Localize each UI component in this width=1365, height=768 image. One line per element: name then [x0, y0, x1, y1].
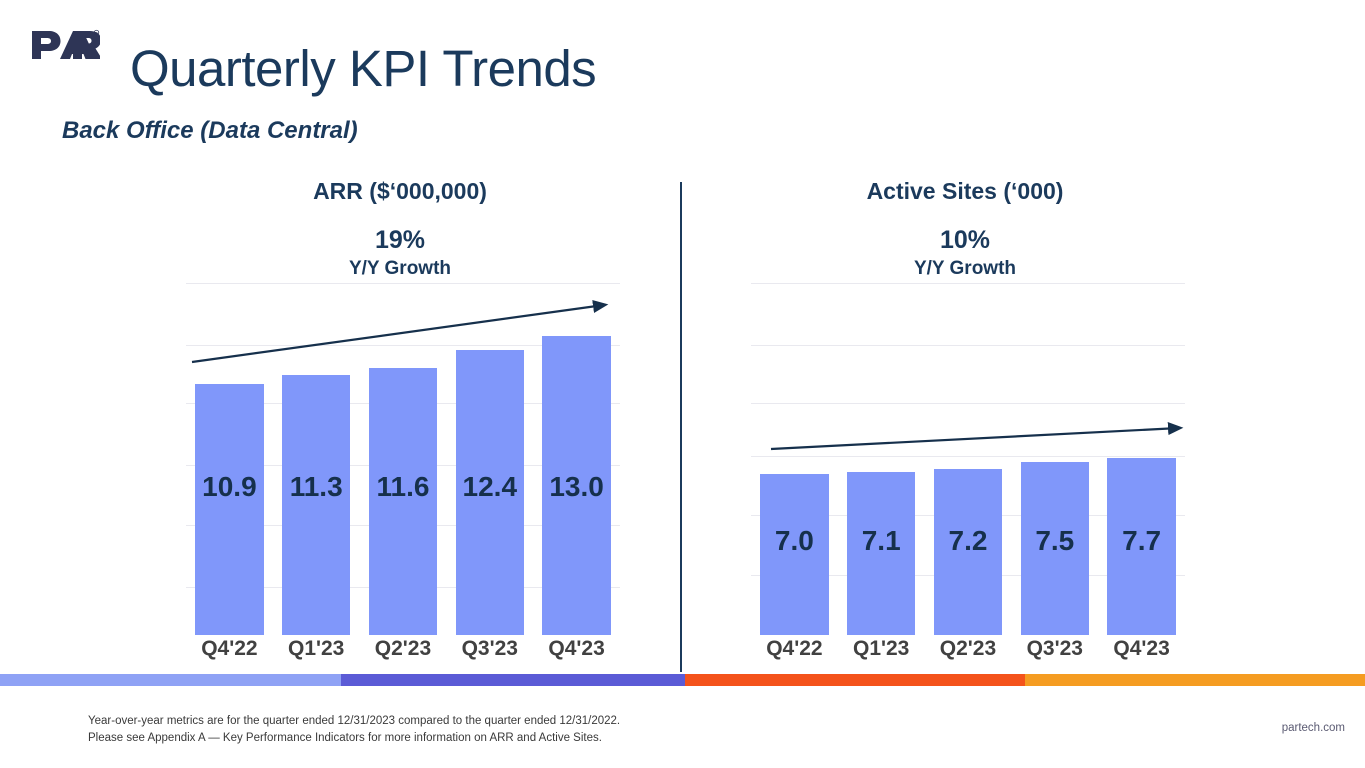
- bar-Q423[interactable]: 13.0: [542, 336, 611, 635]
- x-axis-tick-label: Q4'22: [760, 637, 829, 661]
- bar-Q422[interactable]: 7.0: [760, 474, 829, 635]
- x-axis-tick-label: Q2'23: [369, 637, 438, 661]
- chart-title-active-sites: Active Sites (‘000): [715, 178, 1215, 205]
- bar-Q123[interactable]: 7.1: [847, 472, 916, 635]
- bar-value-label: 11.6: [369, 471, 438, 503]
- gridline: [751, 345, 1185, 346]
- bar-Q422[interactable]: 10.9: [195, 384, 264, 635]
- x-axis-tick-label: Q2'23: [934, 637, 1003, 661]
- strip-segment-indigo: [341, 674, 685, 686]
- x-axis-tick-label: Q3'23: [1021, 637, 1090, 661]
- growth-value-active-sites: 10%: [715, 226, 1215, 255]
- bar-fill: [282, 375, 351, 635]
- bar-fill: [195, 384, 264, 635]
- growth-label-arr: Y/Y Growth: [150, 258, 650, 280]
- bar-Q323[interactable]: 7.5: [1021, 462, 1090, 635]
- strip-segment-orange-red: [685, 674, 1025, 686]
- bar-Q223[interactable]: 7.2: [934, 469, 1003, 635]
- gridline: [751, 456, 1185, 457]
- x-axis-tick-label: Q1'23: [847, 637, 916, 661]
- panel-divider: [680, 182, 682, 672]
- footnote-line-1: Year-over-year metrics are for the quart…: [88, 713, 620, 730]
- x-axis-tick-label: Q3'23: [456, 637, 525, 661]
- footnote: Year-over-year metrics are for the quart…: [88, 713, 620, 746]
- bar-Q323[interactable]: 12.4: [456, 350, 525, 635]
- growth-value-arr: 19%: [150, 226, 650, 255]
- strip-segment-periwinkle: [0, 674, 341, 686]
- x-axis-labels-arr: Q4'22Q1'23Q2'23Q3'23Q4'23: [186, 637, 620, 669]
- bar-value-label: 7.7: [1107, 525, 1176, 557]
- bar-value-label: 7.2: [934, 525, 1003, 557]
- x-axis-labels-active-sites: Q4'22Q1'23Q2'23Q3'23Q4'23: [751, 637, 1185, 669]
- chart-title-arr: ARR ($‘000,000): [150, 178, 650, 205]
- page-subtitle: Back Office (Data Central): [62, 117, 358, 145]
- x-axis-tick-label: Q1'23: [282, 637, 351, 661]
- plot-area-active-sites: 7.07.17.27.57.7: [751, 283, 1185, 635]
- x-axis-tick-label: Q4'23: [542, 637, 611, 661]
- bar-Q123[interactable]: 11.3: [282, 375, 351, 635]
- strip-segment-amber: [1025, 674, 1365, 686]
- footnote-line-2: Please see Appendix A — Key Performance …: [88, 730, 620, 747]
- bar-value-label: 7.5: [1021, 525, 1090, 557]
- gridline: [186, 283, 620, 284]
- site-url: partech.com: [1282, 722, 1345, 734]
- bar-Q423[interactable]: 7.7: [1107, 458, 1176, 635]
- bar-value-label: 13.0: [542, 471, 611, 503]
- bar-value-label: 12.4: [456, 471, 525, 503]
- growth-label-active-sites: Y/Y Growth: [715, 258, 1215, 280]
- gridline: [751, 283, 1185, 284]
- gridline: [751, 403, 1185, 404]
- x-axis-tick-label: Q4'22: [195, 637, 264, 661]
- footer-color-strip: [0, 674, 1365, 686]
- plot-area-arr: 10.911.311.612.413.0: [186, 283, 620, 635]
- bar-value-label: 11.3: [282, 471, 351, 503]
- page-title: Quarterly KPI Trends: [130, 42, 596, 96]
- par-logo: R: [30, 28, 100, 62]
- bar-value-label: 7.1: [847, 525, 916, 557]
- x-axis-tick-label: Q4'23: [1107, 637, 1176, 661]
- slide-canvas: R Quarterly KPI Trends Back Office (Data…: [0, 0, 1365, 768]
- bar-value-label: 7.0: [760, 525, 829, 557]
- bar-Q223[interactable]: 11.6: [369, 368, 438, 635]
- bar-value-label: 10.9: [195, 471, 264, 503]
